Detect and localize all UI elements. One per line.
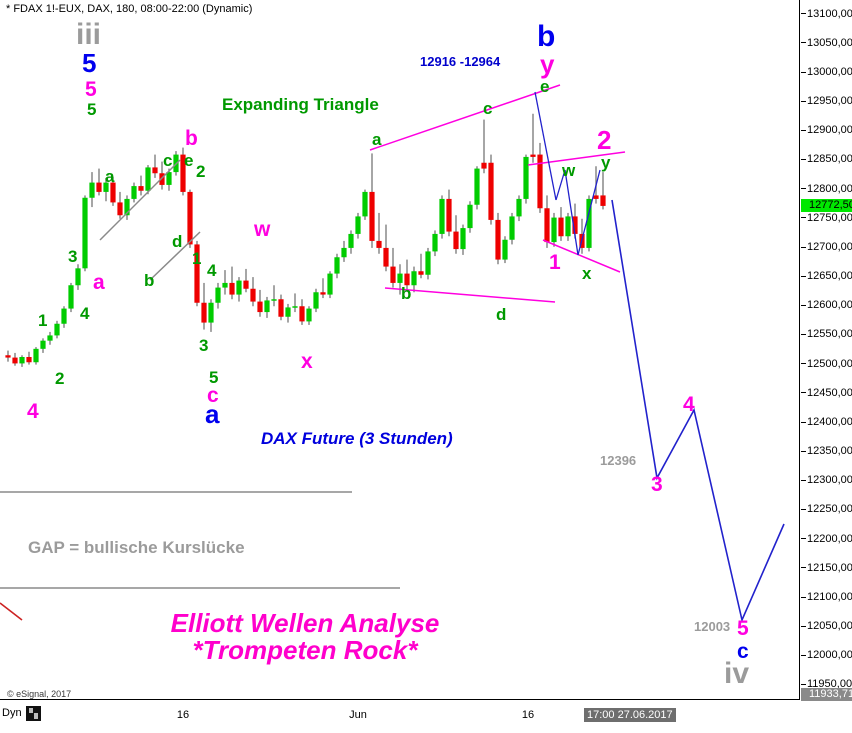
candle-body bbox=[537, 155, 542, 209]
wave-label-1: 1 bbox=[38, 312, 47, 329]
wave-label-3: 3 bbox=[68, 248, 77, 265]
analysis-title-line2: *Trompeten Rock* bbox=[110, 637, 500, 664]
candle-body bbox=[187, 192, 192, 245]
candle-body bbox=[439, 199, 444, 234]
candle-body bbox=[68, 285, 73, 308]
wave-label-b: b bbox=[537, 22, 555, 52]
forecast-polyline bbox=[612, 200, 784, 620]
candle-body bbox=[495, 220, 500, 260]
candle-body bbox=[397, 274, 402, 283]
wave-label-y: y bbox=[540, 51, 554, 77]
wave-label-d: d bbox=[496, 306, 506, 323]
candle-body bbox=[236, 281, 241, 295]
dynamic-mode-icon[interactable] bbox=[26, 706, 41, 721]
price-tick: 12250,00 bbox=[801, 503, 852, 515]
wave-label-4: 4 bbox=[80, 305, 89, 322]
candle-body bbox=[341, 248, 346, 257]
candle-body bbox=[278, 299, 283, 317]
annotation-gap-note: GAP = bullische Kurslücke bbox=[28, 539, 245, 556]
candle-body bbox=[201, 303, 206, 323]
price-tick: 13100,00 bbox=[801, 8, 852, 20]
price-tick: 12150,00 bbox=[801, 562, 852, 574]
wave-label-a: a bbox=[372, 131, 381, 148]
price-tick: 12200,00 bbox=[801, 533, 852, 545]
candle-body bbox=[257, 302, 262, 313]
last-price-arrow-icon bbox=[801, 199, 808, 211]
wave-label-a: a bbox=[93, 272, 105, 293]
candle-body bbox=[467, 205, 472, 228]
price-tick: 12900,00 bbox=[801, 124, 852, 136]
analysis-title-line1: Elliott Wellen Analyse bbox=[110, 610, 500, 637]
wave-label-e: e bbox=[540, 78, 549, 95]
candle-body bbox=[488, 163, 493, 220]
wave-label-2: 2 bbox=[55, 370, 64, 387]
price-tick: 12700,00 bbox=[801, 241, 852, 253]
trendline-gap-line-3 bbox=[0, 603, 22, 620]
annotation-expanding-triangle: Expanding Triangle bbox=[222, 96, 379, 113]
candle-body bbox=[516, 199, 521, 217]
candle-body bbox=[376, 241, 381, 248]
candle-body bbox=[355, 216, 360, 234]
candle-body bbox=[26, 357, 31, 362]
prev-close-marker: 11933,71 bbox=[801, 688, 852, 701]
candle-body bbox=[390, 267, 395, 283]
time-tick-label: Jun bbox=[349, 709, 367, 721]
candle-body bbox=[215, 288, 220, 303]
price-tick: 12500,00 bbox=[801, 358, 852, 370]
candle-body bbox=[348, 234, 353, 248]
candle-body bbox=[565, 216, 570, 236]
wave-label-2: 2 bbox=[597, 127, 611, 153]
candle-body bbox=[145, 167, 150, 190]
candle-body bbox=[292, 306, 297, 308]
wave-label-x: x bbox=[301, 351, 313, 372]
candle-body bbox=[117, 202, 122, 215]
last-price-value: 12772,50 bbox=[809, 199, 852, 211]
candle-body bbox=[327, 274, 332, 295]
candle-body bbox=[173, 155, 178, 173]
price-tick: 12100,00 bbox=[801, 591, 852, 603]
price-tick: 12450,00 bbox=[801, 387, 852, 399]
wave-label-w: w bbox=[562, 162, 575, 179]
wave-label-4: 4 bbox=[27, 401, 39, 422]
wave-label-3: 3 bbox=[651, 474, 663, 495]
candle-body bbox=[558, 218, 563, 237]
candle-body bbox=[89, 183, 94, 198]
wave-label-w: w bbox=[254, 219, 270, 240]
wave-label-5: 5 bbox=[85, 79, 97, 100]
wave-label-a: a bbox=[105, 168, 114, 185]
candle-body bbox=[208, 303, 213, 323]
wave-label-b: b bbox=[401, 285, 411, 302]
candle-body bbox=[432, 234, 437, 252]
candle-body bbox=[40, 341, 45, 349]
price-tick: 12000,00 bbox=[801, 649, 852, 661]
candle-body bbox=[5, 355, 10, 357]
wave-guide-segment bbox=[565, 170, 578, 255]
candle-body bbox=[411, 271, 416, 285]
price-tick: 12550,00 bbox=[801, 328, 852, 340]
price-tick: 12850,00 bbox=[801, 153, 852, 165]
plot-area[interactable] bbox=[0, 0, 800, 700]
chart-overlay bbox=[0, 0, 800, 700]
candle-body bbox=[19, 357, 24, 363]
candle-body bbox=[82, 198, 87, 269]
wave-label-5: 5 bbox=[82, 50, 96, 76]
price-tick: 12650,00 bbox=[801, 270, 852, 282]
dyn-label: Dyn bbox=[2, 707, 22, 719]
candle-body bbox=[474, 169, 479, 205]
candle-body bbox=[579, 234, 584, 248]
price-tick: 12750,00 bbox=[801, 212, 852, 224]
candle-body bbox=[229, 283, 234, 295]
candle-body bbox=[362, 192, 367, 217]
candle-body bbox=[159, 173, 164, 185]
candle-body bbox=[299, 306, 304, 321]
candle-body bbox=[481, 163, 486, 169]
candle-body bbox=[313, 292, 318, 308]
prev-close-arrow-icon bbox=[801, 688, 808, 700]
candle-body bbox=[572, 216, 577, 234]
candle-body bbox=[131, 186, 136, 199]
candle-body bbox=[453, 232, 458, 250]
wave-label-2: 2 bbox=[196, 163, 205, 180]
wave-label-4: 4 bbox=[683, 394, 695, 415]
wave-label-c: c bbox=[163, 152, 172, 169]
candle-body bbox=[320, 292, 325, 294]
candle-body bbox=[54, 324, 59, 336]
wave-label-iv: iv bbox=[724, 659, 749, 689]
copyright-label: © eSignal, 2017 bbox=[7, 689, 71, 699]
price-tick: 13050,00 bbox=[801, 37, 852, 49]
wave-label-y: y bbox=[601, 154, 610, 171]
candle-body bbox=[33, 349, 38, 362]
annotation-analysis-title: Elliott Wellen Analyse *Trompeten Rock* bbox=[110, 610, 500, 665]
candle-body bbox=[551, 218, 556, 243]
annotation-target-range: 12916 -12964 bbox=[420, 55, 500, 68]
candle-body bbox=[12, 358, 17, 364]
wave-label-a: a bbox=[205, 401, 219, 427]
wave-guide-segment bbox=[578, 170, 600, 255]
candle-body bbox=[530, 155, 535, 157]
candle-body bbox=[593, 195, 598, 199]
candle-body bbox=[369, 192, 374, 241]
candle-body bbox=[600, 195, 605, 206]
price-tick: 12600,00 bbox=[801, 299, 852, 311]
wave-label-4: 4 bbox=[207, 262, 216, 279]
candle-body bbox=[502, 240, 507, 260]
wave-guide-segment bbox=[535, 92, 556, 200]
candle-body bbox=[425, 251, 430, 274]
candlestick-series bbox=[5, 114, 605, 367]
wave-label-3: 3 bbox=[199, 337, 208, 354]
candle-body bbox=[460, 228, 465, 249]
status-bar: © eSignal, 2017 Dyn 16Jun1617:00 27.06.2… bbox=[0, 701, 852, 733]
wave-label-5: 5 bbox=[87, 101, 96, 118]
candle-body bbox=[47, 335, 52, 340]
candle-body bbox=[271, 299, 276, 301]
candle-body bbox=[138, 186, 143, 191]
wave-label-iii: iii bbox=[76, 20, 101, 50]
forecast-projection bbox=[612, 200, 784, 620]
chart-root: * FDAX 1!-EUX, DAX, 180, 08:00-22:00 (Dy… bbox=[0, 0, 852, 733]
candle-body bbox=[222, 283, 227, 288]
price-tick: 13000,00 bbox=[801, 66, 852, 78]
price-tick: 12300,00 bbox=[801, 474, 852, 486]
chart-title: * FDAX 1!-EUX, DAX, 180, 08:00-22:00 (Dy… bbox=[6, 3, 252, 15]
annotation-instrument-note: DAX Future (3 Stunden) bbox=[261, 430, 453, 447]
wave-label-d: d bbox=[172, 233, 182, 250]
wave-label-1: 1 bbox=[549, 252, 561, 273]
candle-body bbox=[75, 268, 80, 285]
candle-body bbox=[152, 167, 157, 173]
candle-body bbox=[250, 289, 255, 302]
price-tick: 12950,00 bbox=[801, 95, 852, 107]
candle-body bbox=[166, 172, 171, 185]
time-cursor-label: 17:00 27.06.2017 bbox=[584, 708, 676, 722]
candle-body bbox=[306, 309, 311, 322]
annotation-level-12396: 12396 bbox=[600, 454, 636, 467]
candle-body bbox=[264, 300, 269, 312]
wave-label-5: 5 bbox=[737, 618, 749, 639]
price-tick: 12800,00 bbox=[801, 183, 852, 195]
price-tick: 12050,00 bbox=[801, 620, 852, 632]
candle-body bbox=[383, 248, 388, 267]
trendline-expanding-triangle-upper bbox=[370, 85, 560, 150]
wave-label-b: b bbox=[185, 128, 198, 149]
wave-label-e: e bbox=[184, 152, 193, 169]
candle-body bbox=[446, 199, 451, 232]
annotation-level-12003: 12003 bbox=[694, 620, 730, 633]
time-tick-label: 16 bbox=[177, 709, 189, 721]
last-price-marker: 12772,50 bbox=[801, 199, 852, 212]
wave-label-b: b bbox=[144, 272, 154, 289]
candle-body bbox=[544, 208, 549, 242]
wave-label-c: c bbox=[483, 100, 492, 117]
candle-body bbox=[523, 157, 528, 199]
candle-body bbox=[96, 183, 101, 192]
price-axis[interactable]: 13100,0013050,0013000,0012950,0012900,00… bbox=[801, 0, 852, 700]
candle-body bbox=[418, 271, 423, 275]
prev-close-value: 11933,71 bbox=[809, 688, 852, 700]
candle-body bbox=[243, 281, 248, 289]
candle-body bbox=[509, 216, 514, 239]
candle-body bbox=[334, 257, 339, 273]
candle-body bbox=[61, 309, 66, 324]
price-tick: 12400,00 bbox=[801, 416, 852, 428]
candle-body bbox=[285, 307, 290, 316]
wave-label-1: 1 bbox=[192, 250, 201, 267]
time-tick-label: 16 bbox=[522, 709, 534, 721]
candle-body bbox=[586, 199, 591, 248]
price-tick: 12350,00 bbox=[801, 445, 852, 457]
candle-body bbox=[124, 199, 129, 215]
wave-label-x: x bbox=[582, 265, 591, 282]
